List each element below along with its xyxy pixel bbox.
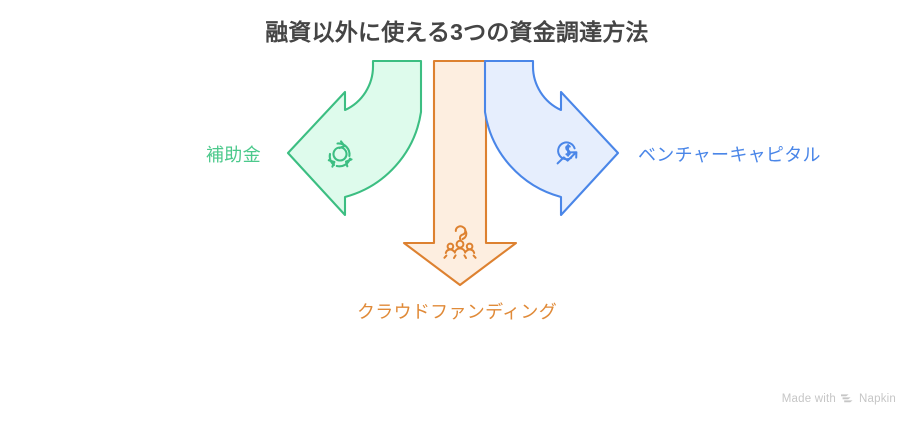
arrows-svg	[0, 0, 914, 422]
label-crowdfunding: クラウドファンディング	[0, 298, 914, 324]
arrow-subsidy-shape	[288, 61, 421, 215]
watermark-made-with-text: Made with	[782, 393, 836, 405]
arrow-subsidy[interactable]	[288, 61, 421, 215]
watermark-brand-text: Napkin	[859, 393, 896, 405]
arrow-venture-capital[interactable]	[485, 61, 618, 215]
napkin-watermark: Made with Napkin	[782, 393, 896, 405]
label-venture-capital: ベンチャーキャピタル	[638, 141, 821, 167]
arrow-venture-capital-shape	[485, 61, 618, 215]
diagram-canvas: 融資以外に使える3つの資金調達方法	[0, 0, 914, 422]
napkin-logo-icon	[841, 393, 854, 405]
label-subsidy: 補助金	[206, 141, 261, 167]
